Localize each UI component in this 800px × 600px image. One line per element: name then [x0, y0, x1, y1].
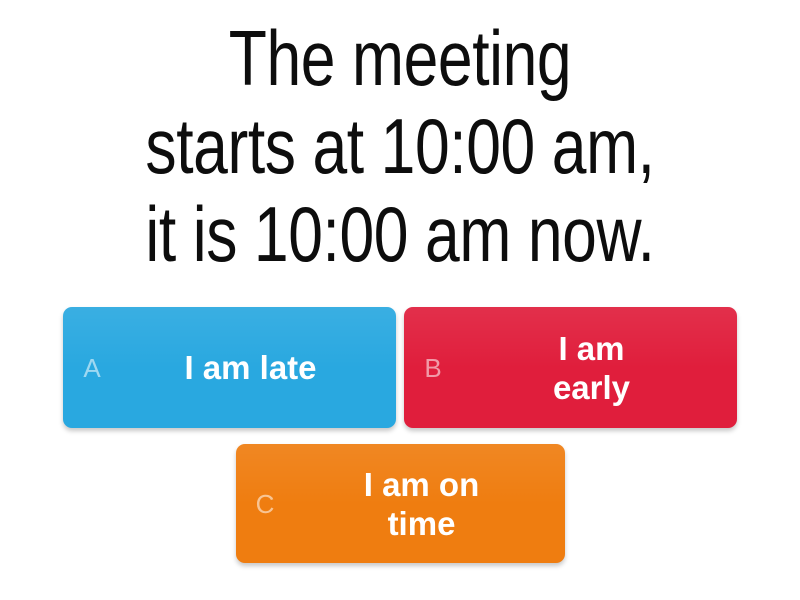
answer-option-c[interactable]: C I am on time [236, 444, 565, 563]
quiz-stage: The meeting starts at 10:00 am, it is 10… [0, 0, 800, 600]
answer-label-b: I am early [462, 329, 737, 407]
answer-option-a[interactable]: A I am late [63, 307, 396, 428]
answer-label-a: I am late [121, 348, 396, 387]
answer-label-c: I am on time [294, 465, 565, 543]
answer-letter-b: B [404, 355, 462, 381]
question-text: The meeting starts at 10:00 am, it is 10… [80, 14, 720, 278]
answer-letter-a: A [63, 355, 121, 381]
answer-letter-c: C [236, 491, 294, 517]
answer-option-b[interactable]: B I am early [404, 307, 737, 428]
